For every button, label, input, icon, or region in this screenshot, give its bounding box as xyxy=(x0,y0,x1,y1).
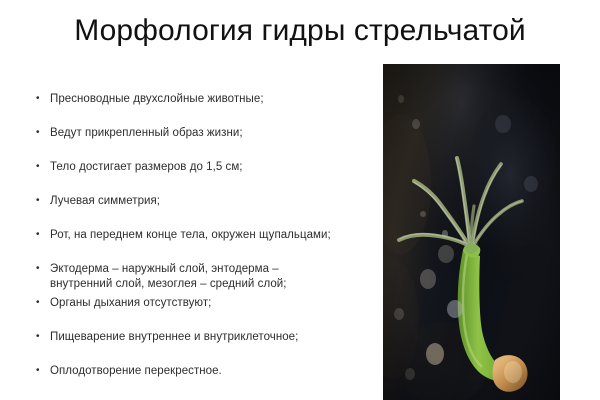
list-item: • Пищеварение внутреннее и внутриклеточн… xyxy=(30,328,375,362)
bullet-point-icon: • xyxy=(30,192,50,210)
list-item-label-line1: Эктодерма – наружный слой, энтодерма – xyxy=(50,263,279,275)
list-item-label: Пресноводные двухслойные животные; xyxy=(50,90,375,107)
list-item-label: Рот, на переднем конце тела, окружен щуп… xyxy=(50,226,375,243)
bullet-point-icon: • xyxy=(30,260,50,278)
bullet-point-icon: • xyxy=(30,362,50,380)
list-item: • Эктодерма – наружный слой, энтодерма –… xyxy=(30,260,375,294)
hydra-photo xyxy=(383,64,560,400)
list-item-label: Эктодерма – наружный слой, энтодерма –вн… xyxy=(50,260,375,292)
list-item-label: Органы дыхания отсутствуют; xyxy=(50,294,375,311)
hydra-photo-illustration xyxy=(383,64,560,400)
list-item: • Пресноводные двухслойные животные; xyxy=(30,90,375,124)
list-item-label: Пищеварение внутреннее и внутриклеточное… xyxy=(50,328,375,345)
bullet-point-icon: • xyxy=(30,294,50,312)
list-item: • Тело достигает размеров до 1,5 см; xyxy=(30,158,375,192)
photo-vignette xyxy=(383,64,560,400)
bullet-list: • Пресноводные двухслойные животные; • В… xyxy=(30,90,375,396)
list-item: • Рот, на переднем конце тела, окружен щ… xyxy=(30,226,375,260)
list-item-label: Оплодотворение перекрестное. xyxy=(50,362,375,379)
list-item-label: Тело достигает размеров до 1,5 см; xyxy=(50,158,375,175)
bullet-point-icon: • xyxy=(30,124,50,142)
bullet-point-icon: • xyxy=(30,328,50,346)
list-item: • Органы дыхания отсутствуют; xyxy=(30,294,375,328)
bullet-point-icon: • xyxy=(30,226,50,244)
list-item: • Оплодотворение перекрестное. xyxy=(30,362,375,396)
list-item-label: Лучевая симметрия; xyxy=(50,192,375,209)
slide-root: Морфология гидры стрельчатой • Пресновод… xyxy=(0,0,600,400)
list-item-label-line2: внутренний слой, мезоглея – средний слой… xyxy=(50,277,375,292)
page-title: Морфология гидры стрельчатой xyxy=(0,12,600,50)
bullet-point-icon: • xyxy=(30,158,50,176)
bullet-point-icon: • xyxy=(30,90,50,108)
list-item: • Лучевая симметрия; xyxy=(30,192,375,226)
list-item-label: Ведут прикрепленный образ жизни; xyxy=(50,124,375,141)
list-item: • Ведут прикрепленный образ жизни; xyxy=(30,124,375,158)
